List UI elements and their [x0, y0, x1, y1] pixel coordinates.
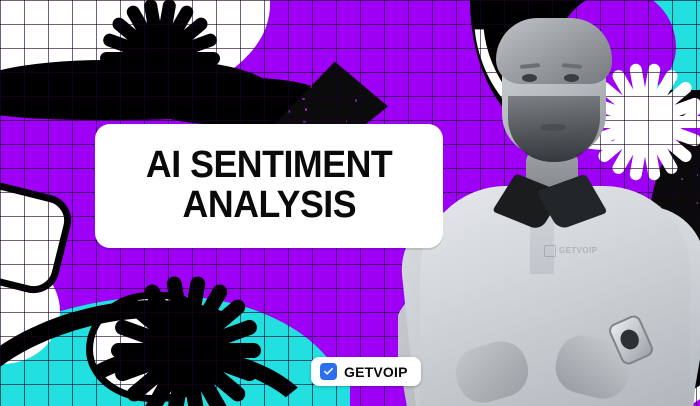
getvoip-badge-label: GETVOIP [344, 364, 408, 380]
title-line-2: ANALYSIS [182, 186, 356, 226]
watch-face [617, 327, 642, 353]
check-badge-icon [320, 363, 337, 380]
presenter-mouth [540, 124, 566, 131]
shirt-logo-mark-icon [544, 245, 556, 257]
title-line-1: AI SENTIMENT [146, 146, 392, 186]
shirt-logo-text: GETVOIP [559, 246, 597, 255]
shirt-embroidered-logo: GETVOIP [544, 244, 602, 257]
title-card: AI SENTIMENT ANALYSIS [95, 124, 443, 248]
starburst-top-left [100, 0, 220, 118]
video-thumbnail-canvas: GETVOIP AI SENTIMENT ANALYSIS GETVOIP [0, 0, 700, 406]
starburst-bottom-left [111, 275, 261, 406]
presenter-eye-left [522, 74, 537, 82]
presenter-hair [496, 18, 612, 84]
getvoip-badge[interactable]: GETVOIP [311, 357, 421, 386]
presenter-portrait: GETVOIP [398, 0, 700, 406]
presenter-eye-right [564, 74, 579, 82]
